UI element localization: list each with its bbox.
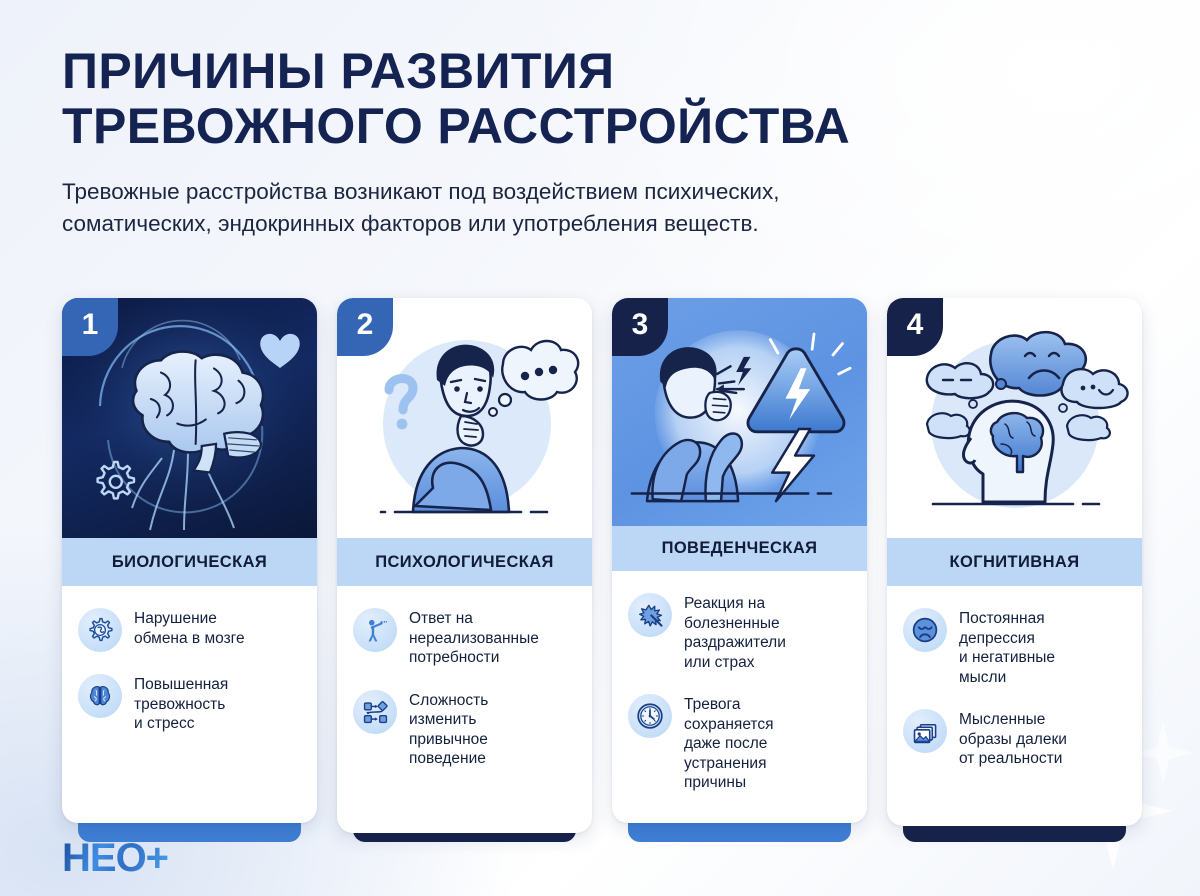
cards-row: 1 БИОЛОГИЧЕСКАЯ Нарушени <box>62 298 1140 833</box>
page-title: ПРИЧИНЫ РАЗВИТИЯ ТРЕВОЖНОГО РАССТРОЙСТВА <box>62 44 1062 154</box>
infographic-page: ПРИЧИНЫ РАЗВИТИЯ ТРЕВОЖНОГО РАССТРОЙСТВА… <box>0 0 1200 896</box>
bullet-item: Постоянная депрессия и негативные мысли <box>903 608 1126 687</box>
card-bullets: Ответ на нереализованные потребности <box>337 586 592 833</box>
card-psychological[interactable]: 2 ПСИХОЛОГИЧЕСКАЯ <box>337 298 592 833</box>
burst-icon <box>628 593 672 637</box>
header: ПРИЧИНЫ РАЗВИТИЯ ТРЕВОЖНОГО РАССТРОЙСТВА… <box>62 44 1062 240</box>
bullet-text: Мысленные образы далеки от реальности <box>959 709 1067 769</box>
card-biological[interactable]: 1 БИОЛОГИЧЕСКАЯ Нарушени <box>62 298 317 833</box>
bullet-item: Мысленные образы далеки от реальности <box>903 709 1126 769</box>
card-label-band: БИОЛОГИЧЕСКАЯ <box>62 538 317 586</box>
card-label: ПОВЕДЕНЧЕСКАЯ <box>662 539 818 558</box>
illustration-brain-neural: 1 <box>62 298 317 538</box>
card-bullets: Постоянная депрессия и негативные мысли <box>887 586 1142 826</box>
bullet-item: Ответ на нереализованные потребности <box>353 608 576 668</box>
card-label: БИОЛОГИЧЕСКАЯ <box>112 553 267 572</box>
card-label-band: ПСИХОЛОГИЧЕСКАЯ <box>337 538 592 586</box>
bullet-text: Повышенная тревожность и стресс <box>134 674 228 734</box>
bullet-item: Тревога сохраняется даже после устранени… <box>628 694 851 793</box>
bullet-item: Сложность изменить привычное поведение <box>353 690 576 769</box>
bullet-item: Повышенная тревожность и стресс <box>78 674 301 734</box>
cloud-icon <box>1067 415 1110 440</box>
bullet-text: Нарушение обмена в мозге <box>134 608 245 648</box>
flowchart-icon <box>353 690 397 734</box>
card-label: КОГНИТИВНАЯ <box>950 553 1080 572</box>
card-label-band: КОГНИТИВНАЯ <box>887 538 1142 586</box>
bullet-text: Сложность изменить привычное поведение <box>409 690 488 769</box>
illustration-man-covering-ears: 3 <box>612 298 867 526</box>
bullet-text: Постоянная депрессия и негативные мысли <box>959 608 1055 687</box>
card-cognitive[interactable]: 4 КОГНИТИВНАЯ <box>887 298 1142 833</box>
cloud-icon <box>927 413 970 438</box>
card-bullets: Нарушение обмена в мозге <box>62 586 317 823</box>
bullet-item: Нарушение обмена в мозге <box>78 608 301 652</box>
sad-face-icon <box>903 608 947 652</box>
images-icon <box>903 709 947 753</box>
gear-metabolism-icon <box>78 608 122 652</box>
page-subtitle: Тревожные расстройства возникают под воз… <box>62 176 1022 240</box>
bullet-item: Реакция на болезненные раздражители или … <box>628 593 851 672</box>
illustration-head-thought-clouds: 4 <box>887 298 1142 538</box>
brand-logo: НЕО+ <box>62 838 168 878</box>
bullet-text: Тревога сохраняется даже после устранени… <box>684 694 774 793</box>
brain-icon <box>78 674 122 718</box>
person-reaching-icon <box>353 608 397 652</box>
bullet-text: Ответ на нереализованные потребности <box>409 608 539 668</box>
illustration-thinking-man: 2 <box>337 298 592 538</box>
clock-icon <box>628 694 672 738</box>
card-label: ПСИХОЛОГИЧЕСКАЯ <box>375 553 554 572</box>
cloud-icon <box>1062 369 1128 408</box>
bullet-text: Реакция на болезненные раздражители или … <box>684 593 786 672</box>
card-label-band: ПОВЕДЕНЧЕСКАЯ <box>612 526 867 572</box>
card-bullets: Реакция на болезненные раздражители или … <box>612 571 867 823</box>
card-behavioral[interactable]: 3 ПОВЕДЕНЧЕСКАЯ Реакция на болезненные р… <box>612 298 867 833</box>
